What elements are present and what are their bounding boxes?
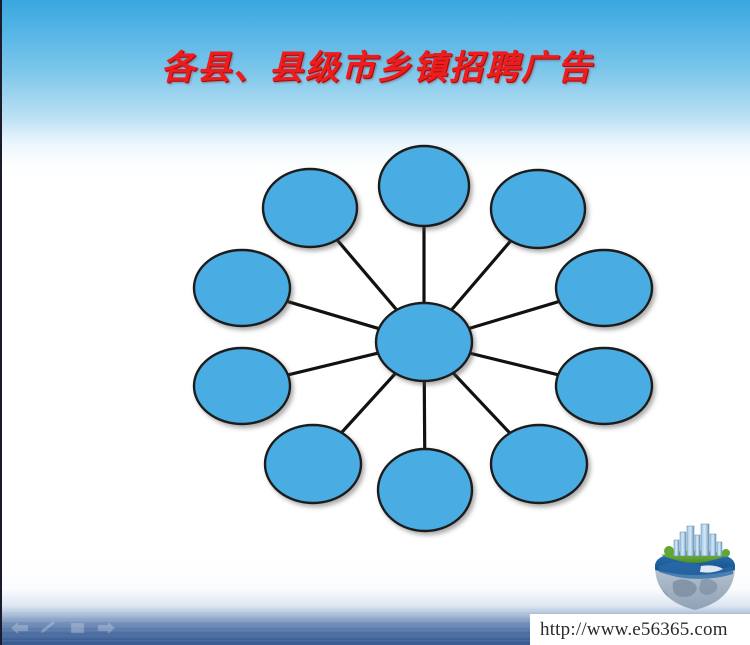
- node-top[interactable]: [379, 146, 469, 226]
- node-top-right[interactable]: [491, 170, 585, 248]
- url-watermark: http://www.e56365.com: [530, 614, 750, 645]
- node-bottom[interactable]: [378, 449, 472, 531]
- earth-city-logo: [647, 522, 743, 614]
- center-hub[interactable]: [376, 303, 472, 381]
- presentation-slide: 各县、县级市乡镇招聘广告: [0, 0, 750, 645]
- node-bottom-left[interactable]: [265, 425, 361, 503]
- arrow-right-icon[interactable]: [97, 620, 116, 635]
- square-icon[interactable]: [68, 620, 87, 635]
- radial-diagram: [2, 0, 750, 645]
- node-left-lower[interactable]: [194, 348, 290, 424]
- pen-icon[interactable]: [39, 620, 58, 635]
- node-right-lower[interactable]: [556, 348, 652, 424]
- arrow-left-icon[interactable]: [10, 620, 29, 635]
- node-bottom-right[interactable]: [491, 425, 587, 503]
- watermark-url-text: http://www.e56365.com: [540, 619, 728, 641]
- node-top-left[interactable]: [263, 169, 357, 247]
- node-left-upper[interactable]: [194, 250, 290, 326]
- node-right-upper[interactable]: [556, 250, 652, 326]
- slideshow-controls[interactable]: [10, 620, 116, 635]
